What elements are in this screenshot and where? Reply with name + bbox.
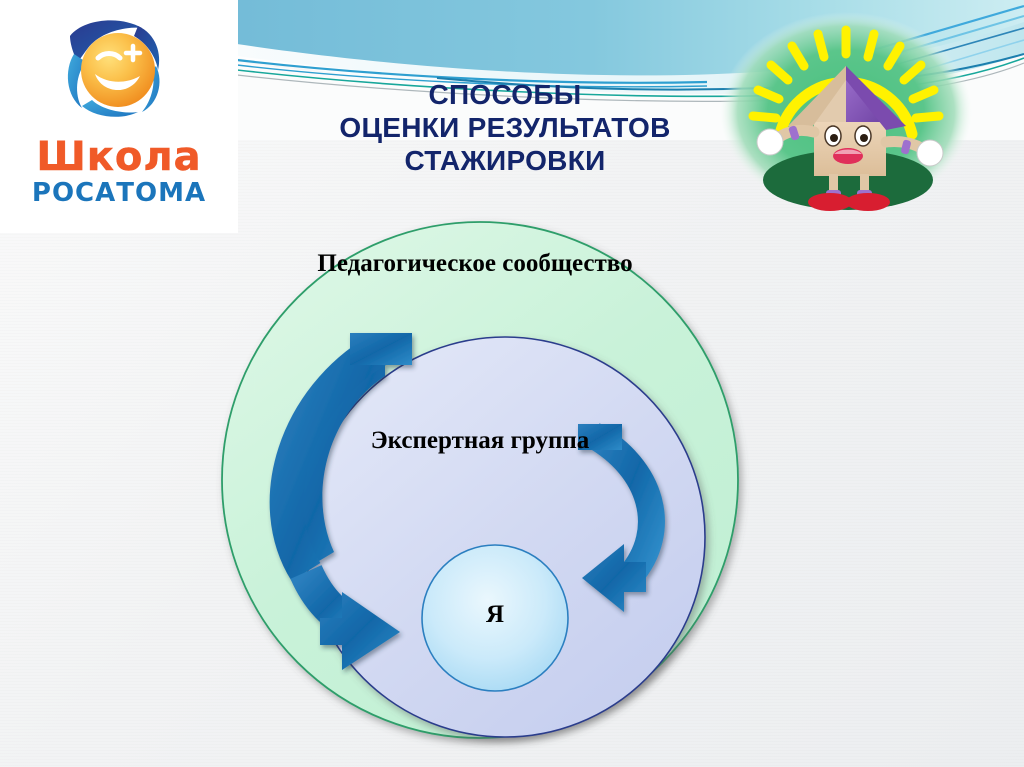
presentation-slide: Школа РОСАТОМА СПОСОБЫ ОЦЕНКИ РЕЗУЛЬТАТО… [0,0,1024,767]
concentric-circles-diagram [200,200,760,760]
title-line-3: СТАЖИРОВКИ [290,144,720,177]
logo-line-2: РОСАТОМА [0,178,238,208]
logo-wordmark: Школа РОСАТОМА [0,136,238,208]
title-line-2: ОЦЕНКИ РЕЗУЛЬТАТОВ [290,111,720,144]
house-character-with-sun-icon [718,8,973,223]
slide-title: СПОСОБЫ ОЦЕНКИ РЕЗУЛЬТАТОВ СТАЖИРОВКИ [290,78,720,177]
title-line-1: СПОСОБЫ [290,78,720,111]
inner-circle [422,545,568,691]
sun-smiley-swoosh-icon [38,14,198,140]
logo-container: Школа РОСАТОМА [0,0,238,233]
logo-line-1: Школа [0,136,238,178]
